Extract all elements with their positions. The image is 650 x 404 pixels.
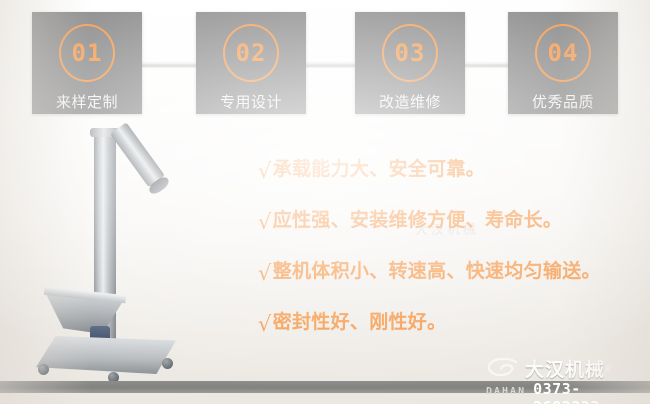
contact-phone: 0373-2682333 <box>533 380 646 404</box>
logo-bottom-row: DAHAN 0373-2682333 <box>486 380 646 396</box>
feature-item: √ 承载能力大、安全可靠。 <box>258 160 650 211</box>
swoosh-icon <box>486 358 520 378</box>
feature-list: √ 承载能力大、安全可靠。 √ 应性强、安装维修方便、寿命长。 √ 整机体积小、… <box>258 160 650 364</box>
step-number-4: 04 <box>548 41 579 65</box>
step-badge-1[interactable]: 01 来样定制 <box>32 12 142 114</box>
feature-text: 密封性好、刚性好。 <box>273 313 447 333</box>
check-icon: √ <box>258 314 272 335</box>
step-number-ring-1: 01 <box>59 24 115 82</box>
step-label-2: 专用设计 <box>220 91 282 112</box>
product-photo <box>22 118 222 380</box>
step-badge-3[interactable]: 03 改造维修 <box>355 12 465 114</box>
feature-text: 承载能力大、安全可靠。 <box>273 160 485 180</box>
steps-row: 01 来样定制 02 专用设计 03 改造维修 04 优秀品质 <box>0 0 650 125</box>
step-connector-2 <box>306 61 355 68</box>
step-label-1: 来样定制 <box>56 91 118 112</box>
step-number-3: 03 <box>395 41 426 65</box>
step-connector-1 <box>142 61 196 68</box>
feature-item: √ 应性强、安装维修方便、寿命长。 <box>258 211 650 262</box>
wheeled-base-frame <box>36 336 176 374</box>
step-number-2: 02 <box>236 41 267 65</box>
caster-wheel <box>38 364 49 375</box>
logo-brand-en: DAHAN <box>486 386 526 397</box>
logo-brand-cn: 大汉机械 <box>525 355 605 382</box>
brand-logo: 大汉机械 ® DAHAN 0373-2682333 <box>486 356 646 398</box>
feature-item: √ 整机体积小、转速高、快速均匀输送。 <box>258 262 650 313</box>
step-badge-4[interactable]: 04 优秀品质 <box>508 12 618 114</box>
registered-mark-icon: ® <box>605 364 611 373</box>
step-number-ring-3: 03 <box>382 24 438 82</box>
caster-wheel <box>162 358 173 369</box>
check-icon: √ <box>258 161 272 182</box>
check-icon: √ <box>258 263 272 284</box>
step-number-1: 01 <box>72 41 103 65</box>
discharge-spout <box>110 122 165 187</box>
step-number-ring-2: 02 <box>223 24 279 82</box>
feature-text: 应性强、安装维修方便、寿命长。 <box>273 211 563 231</box>
feature-text: 整机体积小、转速高、快速均匀输送。 <box>273 262 601 282</box>
step-number-ring-4: 04 <box>535 24 591 82</box>
step-label-3: 改造维修 <box>379 91 441 112</box>
logo-top-row: 大汉机械 ® <box>486 356 611 380</box>
step-label-4: 优秀品质 <box>532 91 594 112</box>
step-connector-3 <box>465 61 508 68</box>
promo-banner: 01 来样定制 02 专用设计 03 改造维修 04 优秀品质 <box>0 0 650 404</box>
check-icon: √ <box>258 212 272 233</box>
step-badge-2[interactable]: 02 专用设计 <box>196 12 306 114</box>
